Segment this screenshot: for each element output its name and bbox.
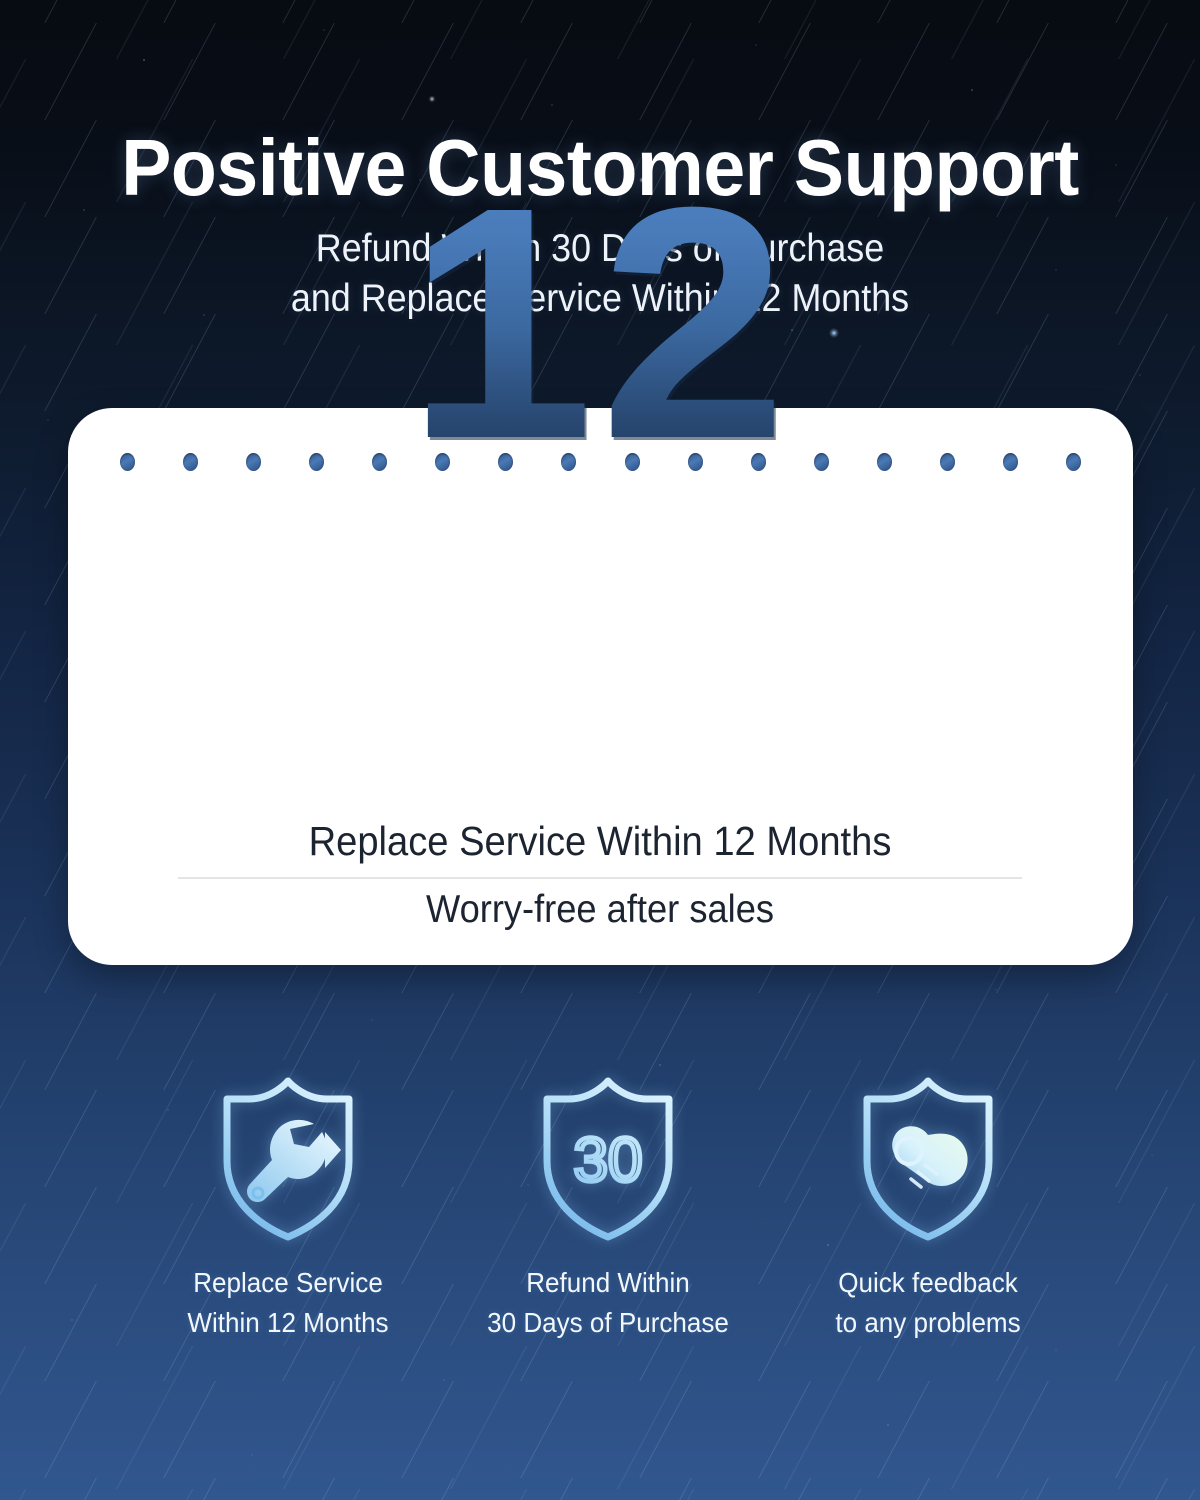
shield-wrench-icon: [148, 1075, 428, 1247]
feature-quick-feedback: Quick feedback to any problems: [788, 1075, 1068, 1343]
feature-replace-service: Replace Service Within 12 Months: [148, 1075, 428, 1343]
promo-banner: Positive Customer Support Refund Within …: [0, 0, 1200, 1500]
feature-row: Replace Service Within 12 Months 30 R: [148, 1075, 1068, 1343]
feature-refund-30-days: 30 Refund Within 30 Days of Purchase: [468, 1075, 748, 1343]
shield-handshake-icon: [788, 1075, 1068, 1247]
warranty-months-number: 12: [0, 158, 1200, 488]
shield-badge-value: 30: [574, 1126, 643, 1195]
feature-caption: Refund Within 30 Days of Purchase: [478, 1263, 738, 1343]
card-divider: [178, 877, 1022, 879]
shield-30-days-icon: 30: [468, 1075, 748, 1247]
warranty-subheadline: Worry-free after sales: [42, 888, 1158, 932]
warranty-headline: Replace Service Within 12 Months: [42, 818, 1158, 865]
feature-caption: Replace Service Within 12 Months: [158, 1263, 418, 1343]
feature-caption: Quick feedback to any problems: [798, 1263, 1058, 1343]
